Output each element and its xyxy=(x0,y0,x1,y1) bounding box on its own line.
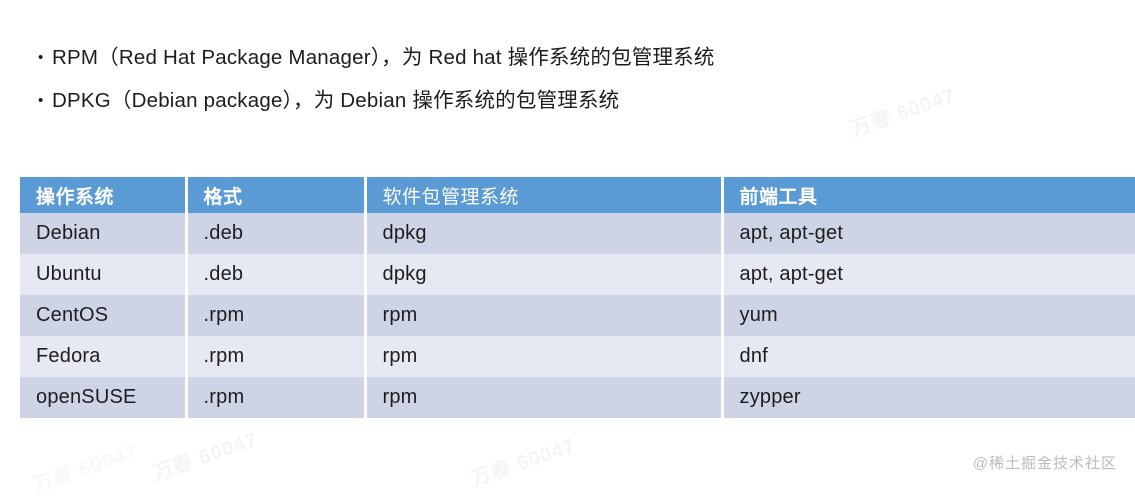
table-row: Ubuntu .deb dpkg apt, apt-get xyxy=(20,254,1135,295)
table-row: CentOS .rpm rpm yum xyxy=(20,295,1135,336)
table-row: Fedora .rpm rpm dnf xyxy=(20,336,1135,377)
bullet-text: DPKG（Debian package），为 Debian 操作系统的包管理系统 xyxy=(52,87,619,115)
bullet-dot-icon: • xyxy=(38,93,52,108)
cell-frontend: zypper xyxy=(722,377,1135,418)
cell-manager: rpm xyxy=(365,377,722,418)
cell-manager: rpm xyxy=(365,295,722,336)
cell-frontend: yum xyxy=(722,295,1135,336)
cell-os: CentOS xyxy=(20,295,186,336)
cell-frontend: apt, apt-get xyxy=(722,213,1135,254)
column-header-package-manager: 软件包管理系统 xyxy=(365,177,722,213)
bullet-list: • RPM（Red Hat Package Manager），为 Red hat… xyxy=(38,44,1098,129)
cell-frontend: dnf xyxy=(722,336,1135,377)
cell-frontend: apt, apt-get xyxy=(722,254,1135,295)
column-header-os: 操作系统 xyxy=(20,177,186,213)
cell-format: .rpm xyxy=(186,295,365,336)
cell-os: Ubuntu xyxy=(20,254,186,295)
cell-format: .rpm xyxy=(186,336,365,377)
table-header-row: 操作系统 格式 软件包管理系统 前端工具 xyxy=(20,177,1135,213)
bullet-text: RPM（Red Hat Package Manager），为 Red hat 操… xyxy=(52,44,715,72)
table-row: Debian .deb dpkg apt, apt-get xyxy=(20,213,1135,254)
background-watermark: 万春 60047 xyxy=(466,429,579,492)
cell-manager: dpkg xyxy=(365,213,722,254)
cell-os: Debian xyxy=(20,213,186,254)
cell-format: .rpm xyxy=(186,377,365,418)
cell-os: Fedora xyxy=(20,336,186,377)
table-row: openSUSE .rpm rpm zypper xyxy=(20,377,1135,418)
column-header-frontend: 前端工具 xyxy=(722,177,1135,213)
background-watermark: 万春 60047 xyxy=(28,435,141,498)
cell-format: .deb xyxy=(186,254,365,295)
cell-os: openSUSE xyxy=(20,377,186,418)
background-watermark: 万春 60047 xyxy=(148,423,261,486)
table-header: 操作系统 格式 软件包管理系统 前端工具 xyxy=(20,177,1135,213)
credit-watermark: @稀土掘金技术社区 xyxy=(973,452,1117,473)
bullet-item: • DPKG（Debian package），为 Debian 操作系统的包管理… xyxy=(38,87,1098,115)
table-body: Debian .deb dpkg apt, apt-get Ubuntu .de… xyxy=(20,213,1135,418)
package-manager-table: 操作系统 格式 软件包管理系统 前端工具 Debian .deb dpkg ap… xyxy=(20,177,1135,418)
cell-manager: rpm xyxy=(365,336,722,377)
column-header-format: 格式 xyxy=(186,177,365,213)
cell-format: .deb xyxy=(186,213,365,254)
bullet-dot-icon: • xyxy=(38,50,52,65)
cell-manager: dpkg xyxy=(365,254,722,295)
bullet-item: • RPM（Red Hat Package Manager），为 Red hat… xyxy=(38,44,1098,72)
